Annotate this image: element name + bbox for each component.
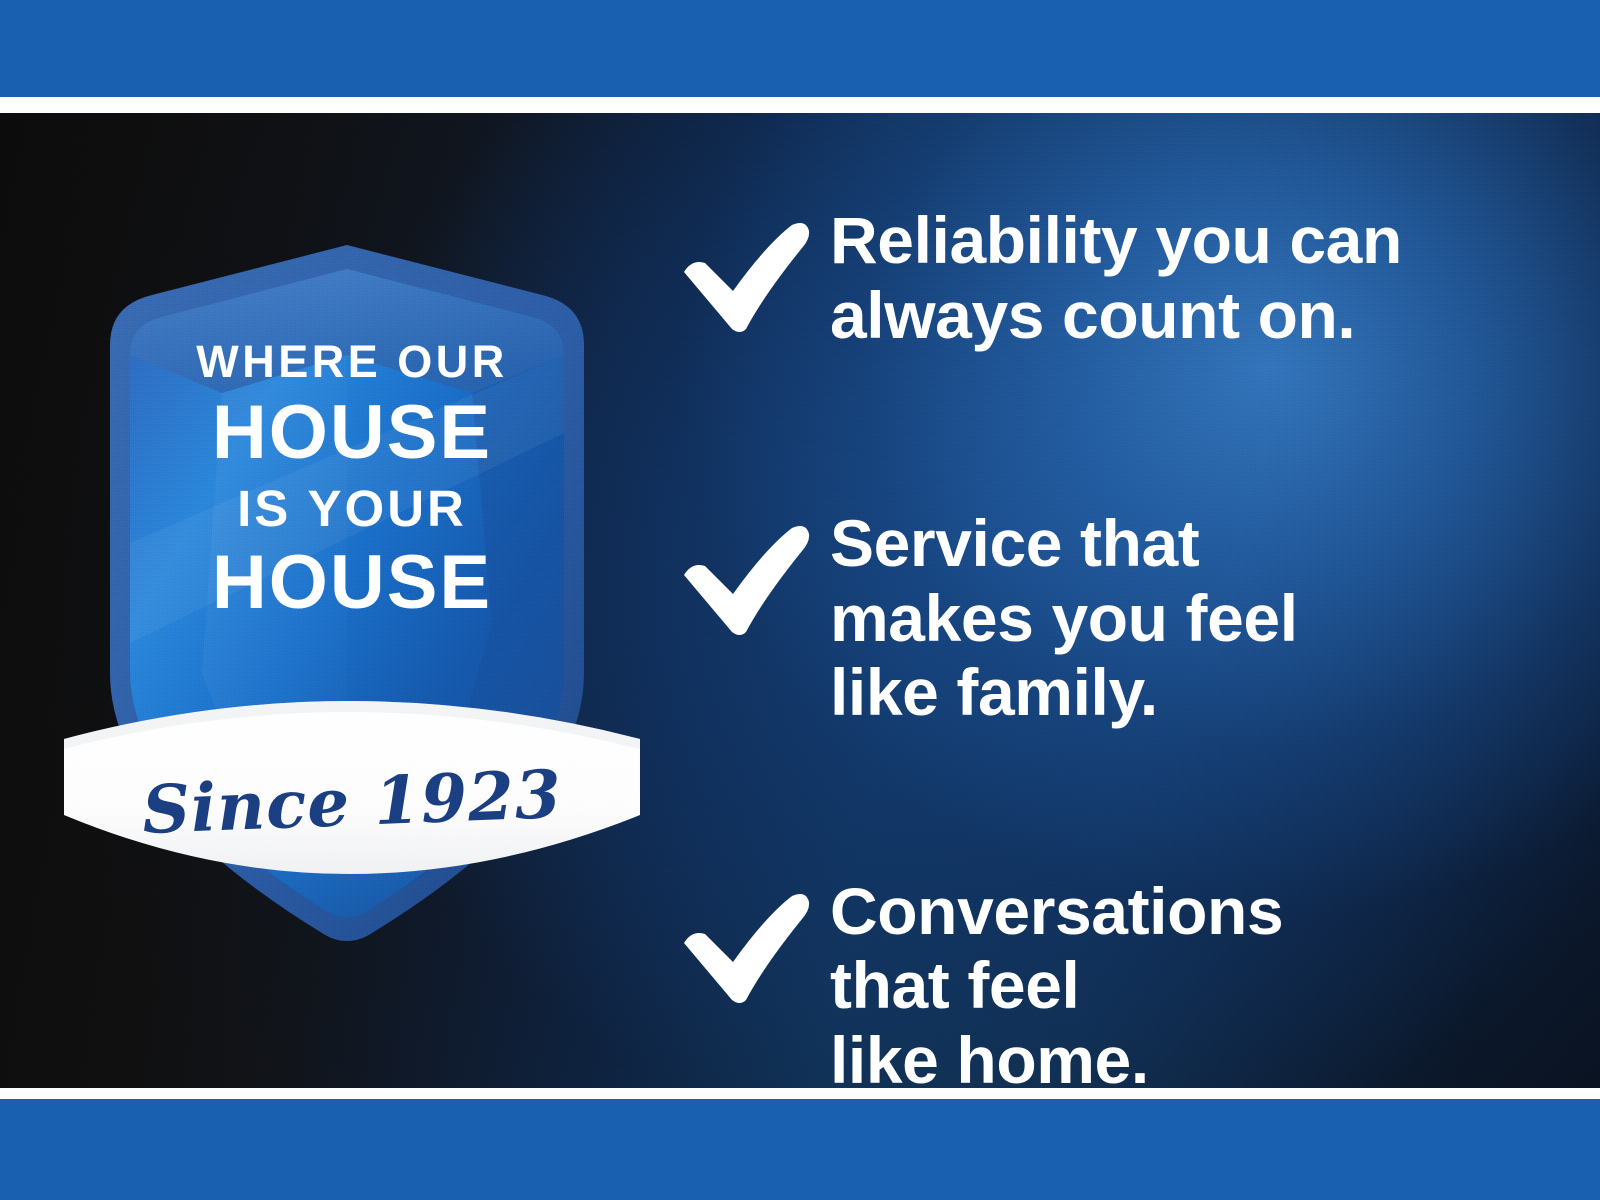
benefit-text: Reliability you can always count on. [830, 203, 1572, 352]
benefit-text: Conversations that feel like home. [830, 874, 1572, 1088]
benefits-list: Reliability you can always count on. Ser… [672, 203, 1572, 1088]
top-divider-stripe [0, 97, 1600, 113]
badge-line-2: HOUSE [72, 395, 632, 471]
bottom-brand-band [0, 1099, 1600, 1200]
benefit-item: Reliability you can always count on. [672, 203, 1572, 352]
badge-wordmark: WHERE OUR HOUSE IS YOUR HOUSE [72, 339, 632, 621]
benefit-text: Service that makes you feel like family. [830, 506, 1572, 730]
shield-badge: WHERE OUR HOUSE IS YOUR HOUSE Since 1923 [72, 243, 632, 943]
badge-line-3: IS YOUR [72, 483, 632, 534]
benefit-item: Conversations that feel like home. [672, 874, 1572, 1088]
promo-graphic: WHERE OUR HOUSE IS YOUR HOUSE Since 1923… [0, 0, 1600, 1200]
badge-line-1: WHERE OUR [72, 339, 632, 384]
bottom-divider-stripe [0, 1088, 1600, 1099]
top-brand-band [0, 0, 1600, 97]
checkmark-icon [672, 215, 812, 333]
benefit-item: Service that makes you feel like family. [672, 506, 1572, 730]
badge-line-4: HOUSE [72, 545, 632, 621]
main-artwork-panel: WHERE OUR HOUSE IS YOUR HOUSE Since 1923… [0, 113, 1600, 1088]
checkmark-icon [672, 886, 812, 1004]
checkmark-icon [672, 518, 812, 636]
